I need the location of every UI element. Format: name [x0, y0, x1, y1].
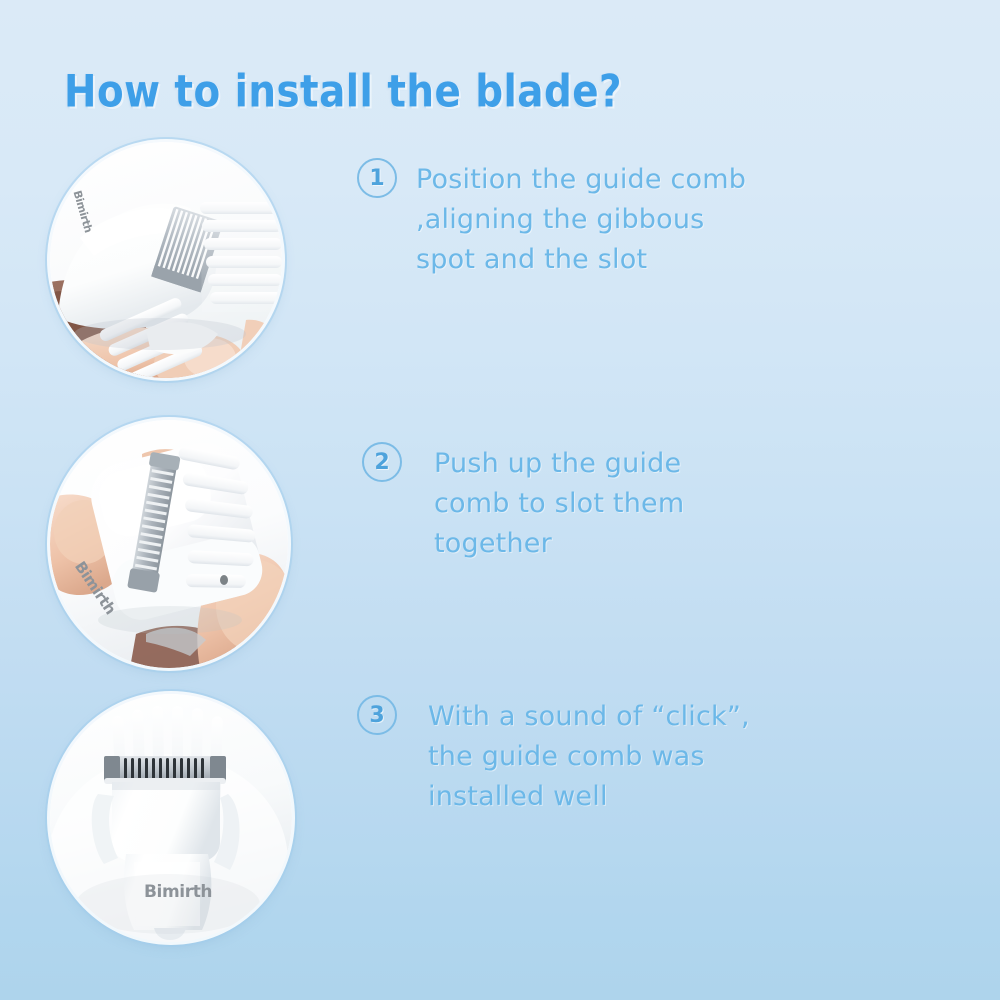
step-1-text: Position the guide comb ,aligning the gi… [416, 160, 856, 280]
step-2-photo: Bimirth [50, 420, 288, 668]
step-1-number: 1 [369, 166, 384, 191]
step-3-number: 3 [369, 703, 384, 728]
step-1-photo: Bimirth [50, 142, 282, 378]
how-to-install-poster: How to install the blade? [0, 0, 1000, 1000]
step-2-illustration [50, 420, 288, 668]
page-title: How to install the blade? [64, 66, 622, 118]
step-1-number-badge: 1 [357, 158, 397, 198]
step-3-number-badge: 3 [357, 695, 397, 735]
brand-logo: Bimirth [144, 882, 212, 902]
step-2-number: 2 [374, 450, 389, 475]
step-2-number-badge: 2 [362, 442, 402, 482]
brand-logo-text: Bimirth [144, 882, 212, 902]
step-3-text: With a sound of “click”, the guide comb … [428, 697, 868, 817]
step-1-illustration [50, 142, 282, 378]
step-3-illustration [50, 694, 292, 942]
step-3-photo: Bimirth [50, 694, 292, 942]
step-2-text: Push up the guide comb to slot them toge… [434, 444, 834, 564]
